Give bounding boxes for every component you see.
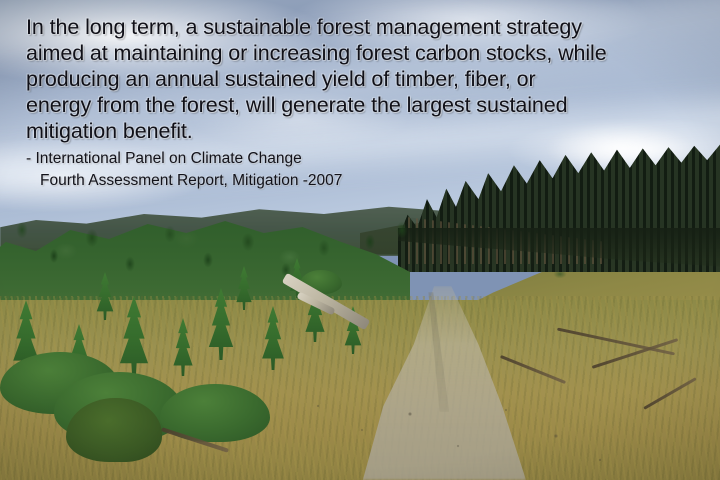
slide-canvas: In the long term, a sustainable forest m… <box>0 0 720 480</box>
quote-line: producing an annual sustained yield of t… <box>26 66 716 92</box>
quote-caption-block: In the long term, a sustainable forest m… <box>26 14 716 192</box>
attribution-block: - International Panel on Climate Change … <box>26 148 716 192</box>
attribution-document: Fourth Assessment Report, Mitigation -20… <box>26 170 716 192</box>
track-gravel-stones <box>300 392 630 480</box>
quote-line: energy from the forest, will generate th… <box>26 92 716 118</box>
attribution-source: - International Panel on Climate Change <box>26 148 716 170</box>
quote-line: In the long term, a sustainable forest m… <box>26 14 716 40</box>
quote-line: aimed at maintaining or increasing fores… <box>26 40 716 66</box>
fern-clump <box>66 398 162 462</box>
quote-line: mitigation benefit. <box>26 118 716 144</box>
